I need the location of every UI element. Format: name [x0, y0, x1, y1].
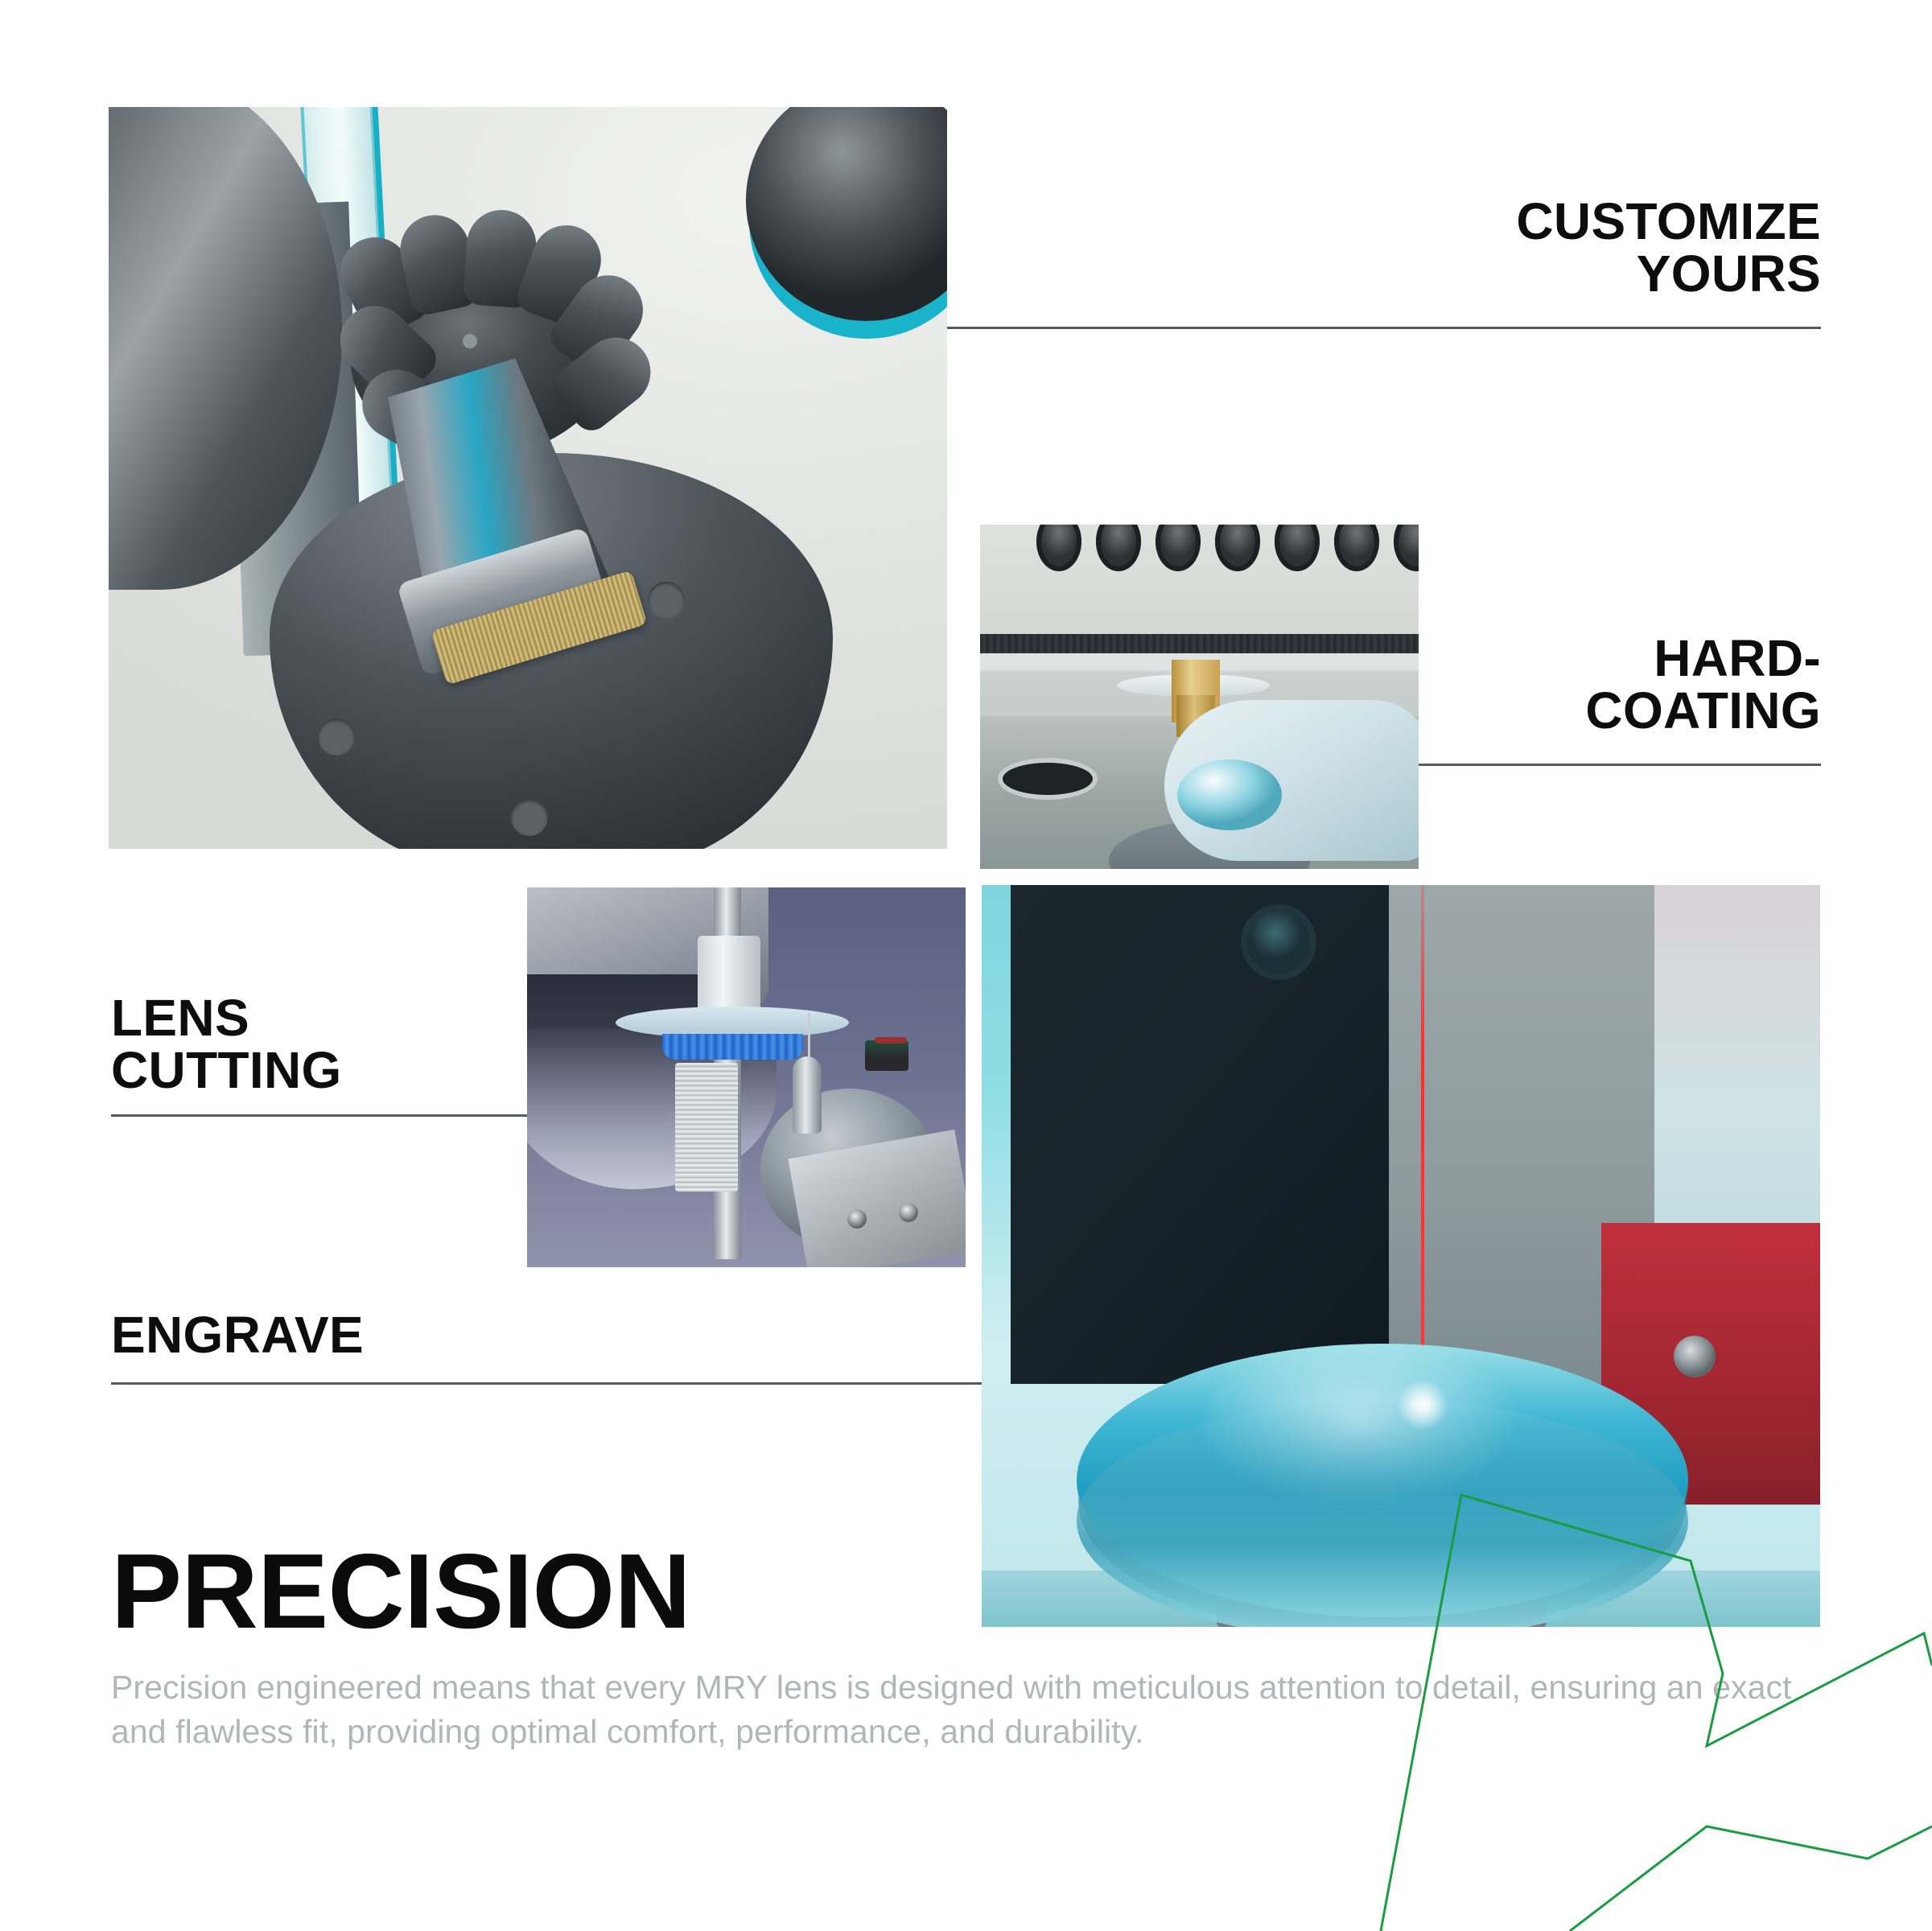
- label-lens-cutting: LENS CUTTING: [111, 992, 342, 1097]
- photo-lens-cutting: [527, 887, 966, 1267]
- label-customize-yours: CUSTOMIZE YOURS: [1516, 196, 1821, 301]
- rule-hard-coating: [1419, 764, 1821, 766]
- rule-customize-yours: [947, 327, 1821, 329]
- photo-engraving: [982, 885, 1820, 1627]
- page-title: PRECISION: [111, 1538, 690, 1645]
- label-hard-coating: HARD- COATING: [1585, 632, 1821, 738]
- photo-hard-coating: [980, 525, 1419, 869]
- body-paragraph: Precision engineered means that every MR…: [111, 1665, 1801, 1754]
- rule-engrave: [111, 1382, 982, 1385]
- rule-lens-cutting: [111, 1114, 527, 1117]
- label-engrave: ENGRAVE: [111, 1309, 364, 1361]
- poster-canvas: CUSTOMIZE YOURS HARD- COATING LENS CUTTI…: [0, 0, 1932, 1931]
- photo-milling: [109, 107, 947, 849]
